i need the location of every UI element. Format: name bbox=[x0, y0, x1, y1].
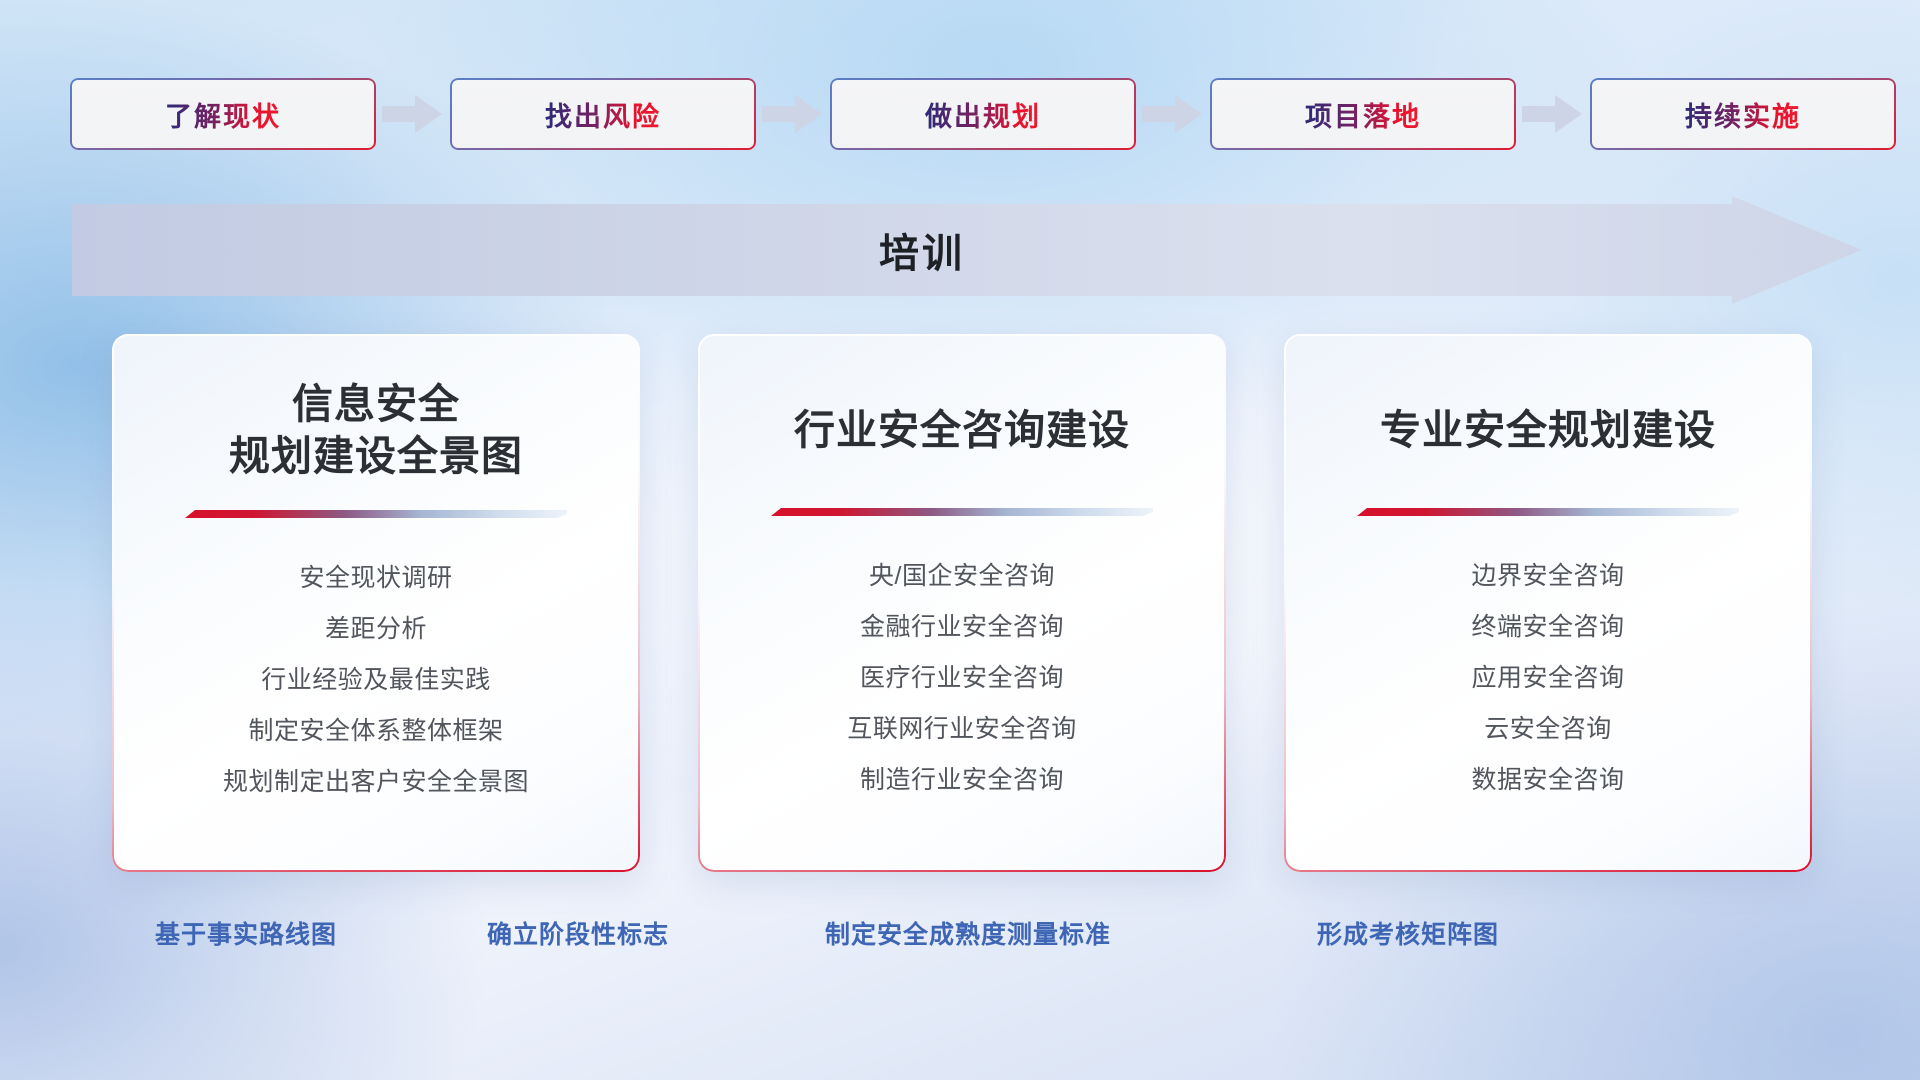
card-list-item[interactable]: 制造行业安全咨询 bbox=[860, 755, 1064, 806]
caption-3: 制定安全成熟度测量标准 bbox=[825, 915, 1111, 951]
arrow-right-icon bbox=[1142, 94, 1204, 134]
card-title: 信息安全 规划建设全景图 bbox=[112, 378, 640, 482]
card-list-item[interactable]: 医疗行业安全咨询 bbox=[860, 653, 1064, 704]
card-list-item[interactable]: 安全现状调研 bbox=[299, 553, 452, 604]
service-card-2[interactable]: 行业安全咨询建设 央/国企安全咨询金融行业安全咨询医疗行业安全咨询互联网行业安全… bbox=[698, 334, 1226, 872]
card-item-list: 边界安全咨询终端安全咨询应用安全咨询云安全咨询数据安全咨询 bbox=[1284, 551, 1812, 806]
card-list-item[interactable]: 互联网行业安全咨询 bbox=[847, 704, 1077, 755]
step-connector-arrow-3 bbox=[1142, 94, 1204, 134]
step-box-3[interactable]: 做出规划 bbox=[830, 78, 1136, 150]
card-title: 专业安全规划建设 bbox=[1284, 404, 1812, 456]
card-item-list: 央/国企安全咨询金融行业安全咨询医疗行业安全咨询互联网行业安全咨询制造行业安全咨… bbox=[698, 551, 1226, 806]
step-label: 做出规划 bbox=[925, 95, 1041, 134]
card-list-item[interactable]: 终端安全咨询 bbox=[1471, 602, 1624, 653]
step-box-1[interactable]: 了解现状 bbox=[70, 78, 376, 150]
step-box-4[interactable]: 项目落地 bbox=[1210, 78, 1516, 150]
caption-2: 确立阶段性标志 bbox=[487, 915, 669, 951]
service-card-1[interactable]: 信息安全 规划建设全景图 安全现状调研差距分析行业经验及最佳实践制定安全体系整体… bbox=[112, 334, 640, 872]
card-list-item[interactable]: 数据安全咨询 bbox=[1471, 755, 1624, 806]
caption-1: 基于事实路线图 bbox=[155, 915, 337, 951]
service-card-3[interactable]: 专业安全规划建设 边界安全咨询终端安全咨询应用安全咨询云安全咨询数据安全咨询 bbox=[1284, 334, 1812, 872]
step-label: 持续实施 bbox=[1685, 95, 1801, 134]
step-label: 项目落地 bbox=[1305, 95, 1421, 134]
step-box-2[interactable]: 找出风险 bbox=[450, 78, 756, 150]
process-step-row: 了解现状 找出风险 做出规划 项目落地 持续实施 bbox=[70, 78, 1850, 150]
card-list-item[interactable]: 行业经验及最佳实践 bbox=[261, 655, 491, 706]
caption-row: 基于事实路线图确立阶段性标志制定安全成熟度测量标准形成考核矩阵图 bbox=[0, 915, 1920, 957]
card-divider bbox=[185, 510, 567, 519]
step-box-5[interactable]: 持续实施 bbox=[1590, 78, 1896, 150]
card-list-item[interactable]: 央/国企安全咨询 bbox=[869, 551, 1055, 602]
step-label: 了解现状 bbox=[165, 95, 281, 134]
caption-4: 形成考核矩阵图 bbox=[1317, 915, 1499, 951]
step-connector-arrow-4 bbox=[1522, 94, 1584, 134]
card-list-item[interactable]: 规划制定出客户安全全景图 bbox=[223, 757, 529, 808]
banner-title: 培训 bbox=[72, 196, 1772, 304]
card-divider bbox=[1357, 508, 1739, 517]
arrow-right-icon bbox=[382, 94, 444, 134]
card-row: 信息安全 规划建设全景图 安全现状调研差距分析行业经验及最佳实践制定安全体系整体… bbox=[112, 334, 1812, 874]
card-list-item[interactable]: 应用安全咨询 bbox=[1471, 653, 1624, 704]
card-list-item[interactable]: 边界安全咨询 bbox=[1471, 551, 1624, 602]
step-connector-arrow-2 bbox=[762, 94, 824, 134]
card-title: 行业安全咨询建设 bbox=[698, 404, 1226, 456]
training-banner: 培训 bbox=[72, 196, 1862, 304]
step-connector-arrow-1 bbox=[382, 94, 444, 134]
card-divider bbox=[771, 508, 1153, 517]
step-label: 找出风险 bbox=[545, 95, 661, 134]
card-list-item[interactable]: 制定安全体系整体框架 bbox=[248, 706, 503, 757]
card-list-item[interactable]: 云安全咨询 bbox=[1484, 704, 1612, 755]
arrow-right-icon bbox=[762, 94, 824, 134]
card-list-item[interactable]: 金融行业安全咨询 bbox=[860, 602, 1064, 653]
card-list-item[interactable]: 差距分析 bbox=[325, 604, 427, 655]
arrow-right-icon bbox=[1522, 94, 1584, 134]
card-item-list: 安全现状调研差距分析行业经验及最佳实践制定安全体系整体框架规划制定出客户安全全景… bbox=[112, 553, 640, 808]
